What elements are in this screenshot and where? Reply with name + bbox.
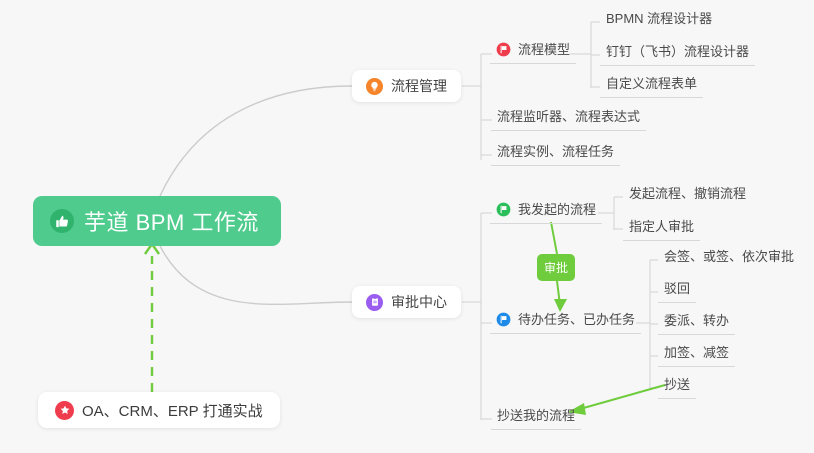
node-label: 加签、减签	[664, 344, 729, 361]
node-label: 钉钉（飞书）流程设计器	[606, 43, 749, 60]
node-assigned-approver[interactable]: 指定人审批	[623, 215, 700, 241]
node-cc-to-me-process[interactable]: 抄送我的流程	[491, 404, 581, 430]
clipboard-icon	[366, 294, 383, 311]
branch-node-process-management[interactable]: 流程管理	[352, 70, 461, 102]
node-bpmn-designer[interactable]: BPMN 流程设计器	[600, 7, 718, 32]
node-label: 流程监听器、流程表达式	[497, 108, 640, 125]
node-cc[interactable]: 抄送	[658, 373, 696, 399]
node-label: 待办任务、已办任务	[518, 311, 635, 328]
link-root-to-approval-center	[160, 246, 352, 304]
node-custom-process-form[interactable]: 自定义流程表单	[600, 72, 703, 98]
node-process-instance-task[interactable]: 流程实例、流程任务	[491, 140, 620, 166]
node-add-remove-sign[interactable]: 加签、减签	[658, 341, 735, 367]
arrow-approval-lower	[557, 281, 560, 305]
node-label: 流程实例、流程任务	[497, 143, 614, 160]
node-label: 自定义流程表单	[606, 75, 697, 92]
star-icon	[55, 401, 74, 420]
link-root-to-process-management	[160, 86, 352, 196]
root-node[interactable]: 芋道 BPM 工作流	[33, 196, 281, 246]
arrow-cc-line	[580, 385, 665, 409]
node-integration-practice[interactable]: OA、CRM、ERP 打通实战	[38, 392, 280, 428]
flag-icon	[496, 312, 511, 327]
node-label: 指定人审批	[629, 218, 694, 235]
node-label: 驳回	[664, 280, 690, 297]
node-my-initiated-process[interactable]: 我发起的流程	[490, 198, 602, 224]
approval-flow-label[interactable]: 审批	[537, 254, 575, 281]
thumbs-up-icon	[50, 209, 74, 233]
arrow-approval-upper	[551, 222, 557, 254]
node-label: 我发起的流程	[518, 201, 596, 218]
node-label: BPMN 流程设计器	[606, 10, 712, 27]
node-label: 委派、转办	[664, 312, 729, 329]
node-label: 流程模型	[518, 41, 570, 58]
node-reject[interactable]: 驳回	[658, 277, 696, 303]
mindmap-canvas: 芋道 BPM 工作流 流程管理 审批中心	[0, 0, 814, 453]
flag-icon	[496, 42, 511, 57]
node-process-listener-expression[interactable]: 流程监听器、流程表达式	[491, 105, 646, 131]
node-process-model[interactable]: 流程模型	[490, 38, 576, 64]
lightbulb-icon	[366, 78, 383, 95]
branch-label-approval-center: 审批中心	[391, 292, 447, 312]
flag-icon	[496, 202, 511, 217]
branch-label-process-management: 流程管理	[391, 76, 447, 96]
node-label: 抄送	[664, 376, 690, 393]
node-dingtalk-feishu-designer[interactable]: 钉钉（飞书）流程设计器	[600, 40, 755, 66]
branch-node-approval-center[interactable]: 审批中心	[352, 286, 461, 318]
node-label: 会签、或签、依次审批	[664, 248, 794, 265]
node-countersign-orsign-sequential[interactable]: 会签、或签、依次审批	[658, 245, 800, 270]
root-label: 芋道 BPM 工作流	[84, 205, 259, 237]
node-label: 发起流程、撤销流程	[629, 185, 746, 202]
node-todo-done-tasks[interactable]: 待办任务、已办任务	[490, 308, 641, 334]
node-label: 抄送我的流程	[497, 407, 575, 424]
node-label: OA、CRM、ERP 打通实战	[82, 400, 263, 421]
node-start-cancel-process[interactable]: 发起流程、撤销流程	[623, 182, 752, 207]
node-delegate-transfer[interactable]: 委派、转办	[658, 309, 735, 335]
